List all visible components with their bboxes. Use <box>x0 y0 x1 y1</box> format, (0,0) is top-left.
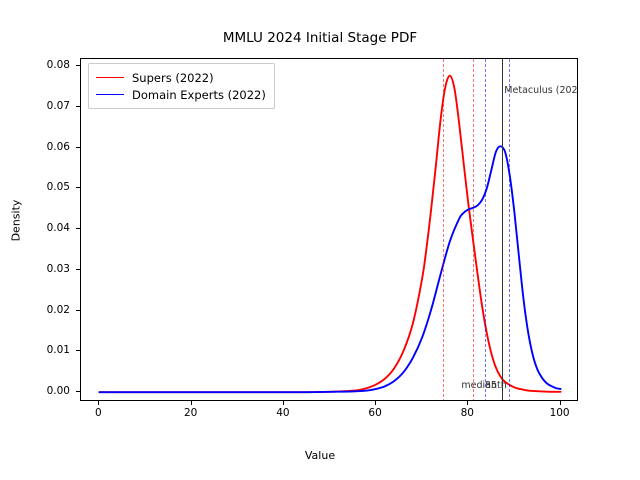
y-tick <box>76 310 80 311</box>
y-tick <box>76 391 80 392</box>
x-tick <box>283 401 284 405</box>
density-curve <box>99 76 560 393</box>
y-tick-label: 0.06 <box>0 141 70 153</box>
curves-svg <box>81 59 578 401</box>
x-tick <box>375 401 376 405</box>
annotation-metaculus-label: Metaculus (2023) <box>504 85 578 96</box>
annotation-85th-label: 85th <box>485 380 507 391</box>
y-tick-label: 0.00 <box>0 385 70 397</box>
y-tick-label: 0.03 <box>0 263 70 275</box>
legend-label: Supers (2022) <box>132 71 214 85</box>
x-tick-label: 20 <box>184 407 197 419</box>
vline-metaculus-2023 <box>502 59 503 401</box>
y-axis-label: Density <box>10 181 23 261</box>
vline-supers-85th <box>473 59 474 401</box>
x-tick <box>560 401 561 405</box>
x-tick <box>191 401 192 405</box>
y-tick <box>76 147 80 148</box>
y-tick <box>76 269 80 270</box>
legend-item[interactable]: Domain Experts (2022) <box>96 86 266 103</box>
chart-title: MMLU 2024 Initial Stage PDF <box>0 30 640 46</box>
chart-figure: MMLU 2024 Initial Stage PDF Metaculus (2… <box>0 0 640 480</box>
x-tick-label: 100 <box>550 407 570 419</box>
plot-area: Metaculus (2023)median85th <box>80 58 578 401</box>
x-tick <box>98 401 99 405</box>
y-tick-label: 0.02 <box>0 304 70 316</box>
y-tick <box>76 228 80 229</box>
x-tick <box>467 401 468 405</box>
y-tick-label: 0.07 <box>0 100 70 112</box>
vline-experts-85th <box>509 59 510 401</box>
y-tick <box>76 187 80 188</box>
y-tick <box>76 106 80 107</box>
y-tick <box>76 65 80 66</box>
x-tick-label: 60 <box>368 407 381 419</box>
legend-swatch-icon <box>96 77 124 78</box>
x-tick-label: 80 <box>461 407 474 419</box>
y-tick-label: 0.01 <box>0 344 70 356</box>
y-tick-label: 0.08 <box>0 59 70 71</box>
x-axis-label: Value <box>0 449 640 462</box>
y-tick <box>76 350 80 351</box>
vline-supers-median <box>443 59 444 401</box>
vline-experts-median <box>485 59 486 401</box>
legend-label: Domain Experts (2022) <box>132 88 266 102</box>
x-tick-label: 40 <box>276 407 289 419</box>
chart-legend: Supers (2022)Domain Experts (2022) <box>88 63 275 109</box>
legend-item[interactable]: Supers (2022) <box>96 69 266 86</box>
x-tick-label: 0 <box>95 407 102 419</box>
legend-swatch-icon <box>96 94 124 95</box>
